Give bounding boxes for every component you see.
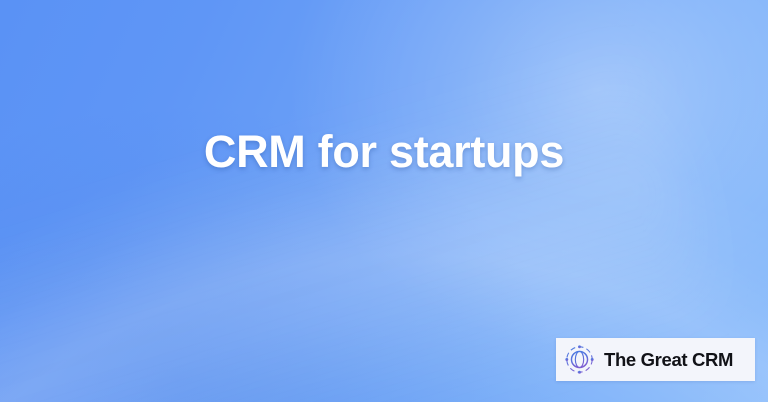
brand-name-label: The Great CRM	[604, 349, 733, 371]
globe-network-icon	[564, 344, 595, 375]
page-title: CRM for startups	[0, 126, 768, 178]
brand-logo-badge[interactable]: The Great CRM	[556, 338, 755, 381]
hero-banner: CRM for startups	[0, 0, 768, 402]
